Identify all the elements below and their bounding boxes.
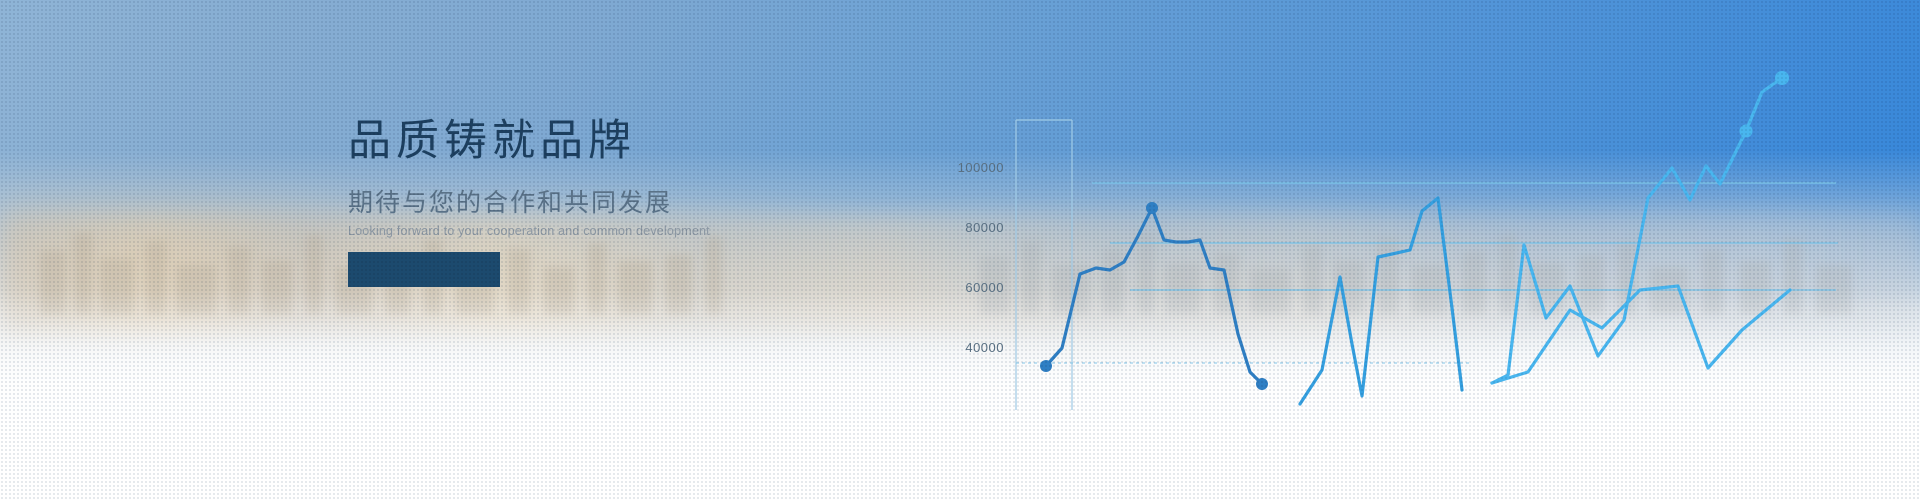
y-tick-label: 80000 <box>965 220 1004 235</box>
page-title: 品质铸就品牌 <box>348 120 818 163</box>
banner-subtitle-en: Looking forward to your cooperation and … <box>348 225 818 238</box>
cta-button[interactable] <box>348 252 500 287</box>
line-chart: 100000 80000 60000 40000 <box>0 0 1920 500</box>
chart-marker <box>1256 378 1268 390</box>
chart-marker <box>1740 125 1753 138</box>
chart-series-4-line <box>1492 286 1790 383</box>
halftone-texture-overlay <box>0 0 1920 500</box>
skyline-silhouette <box>0 205 1920 315</box>
banner-subtitle-cn: 期待与您的合作和共同发展 <box>348 191 818 216</box>
chart-marker <box>1040 360 1052 372</box>
chart-data-markers <box>1040 71 1789 390</box>
hero-banner: 100000 80000 60000 40000 <box>0 0 1920 500</box>
horizon-glow <box>0 140 1920 370</box>
blurred-cityscape <box>0 215 1920 335</box>
chart-series-2-line <box>1300 198 1462 404</box>
y-tick-label: 40000 <box>965 340 1004 355</box>
chart-series-1-line <box>1046 208 1262 384</box>
chart-series-3-line <box>1492 78 1782 383</box>
chart-marker <box>1775 71 1789 85</box>
y-tick-label: 100000 <box>958 160 1004 175</box>
bottom-fade <box>0 290 1920 500</box>
chart-marker <box>1146 202 1158 214</box>
chart-axis-frame <box>1016 120 1072 410</box>
chart-gridlines <box>1016 183 1838 363</box>
banner-text-block: 品质铸就品牌 期待与您的合作和共同发展 Looking forward to y… <box>348 120 818 238</box>
y-tick-label: 60000 <box>965 280 1004 295</box>
y-axis-tick-labels: 100000 80000 60000 40000 <box>958 160 1004 355</box>
